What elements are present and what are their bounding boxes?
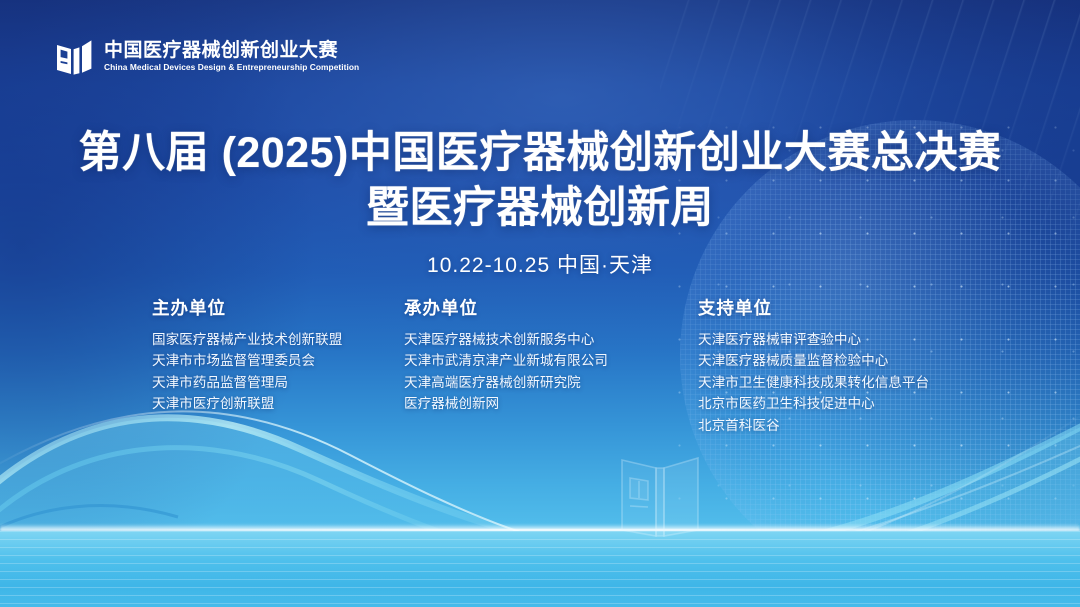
brand-logo[interactable]: 中国医疗器械创新创业大赛 China Medical Devices Desig… — [54, 36, 359, 78]
title-line-1: 第八届 (2025)中国医疗器械创新创业大赛总决赛 — [0, 126, 1080, 181]
event-poster: 中国医疗器械创新创业大赛 China Medical Devices Desig… — [0, 0, 1080, 607]
title-line-2: 暨医疗器械创新周 — [0, 181, 1080, 236]
open-door-book-logo-icon — [54, 36, 94, 78]
organizer-heading: 承办单位 — [404, 300, 698, 318]
organizer-column-support: 支持单位 天津医疗器械审评查验中心 天津医疗器械质量监督检验中心 天津市卫生健康… — [698, 300, 972, 436]
organizer-item: 天津市卫生健康科技成果转化信息平台 — [698, 372, 972, 394]
organizer-item: 天津市市场监督管理委员会 — [152, 350, 404, 372]
organizer-heading: 支持单位 — [698, 300, 972, 318]
organizer-item: 国家医疗器械产业技术创新联盟 — [152, 329, 404, 351]
organizer-item: 天津市武清京津产业新城有限公司 — [404, 350, 698, 372]
organizer-item: 天津市药品监督管理局 — [152, 372, 404, 394]
open-door-watermark-icon — [594, 448, 724, 543]
water-stripes-decoration — [0, 531, 1080, 607]
organizer-heading: 主办单位 — [152, 300, 404, 318]
brand-name-en: China Medical Devices Design & Entrepren… — [104, 63, 359, 72]
organizer-item: 天津市医疗创新联盟 — [152, 393, 404, 415]
organizer-item: 北京首科医谷 — [698, 415, 972, 437]
brand-logo-text: 中国医疗器械创新创业大赛 China Medical Devices Desig… — [104, 41, 359, 72]
organizer-item: 天津医疗器械质量监督检验中心 — [698, 350, 972, 372]
brand-name-cn: 中国医疗器械创新创业大赛 — [104, 41, 359, 61]
organizer-column-co-host: 承办单位 天津医疗器械技术创新服务中心 天津市武清京津产业新城有限公司 天津高端… — [404, 300, 698, 436]
organizer-item: 天津医疗器械技术创新服务中心 — [404, 329, 698, 351]
organizer-item: 医疗器械创新网 — [404, 393, 698, 415]
organizer-item: 天津医疗器械审评查验中心 — [698, 329, 972, 351]
organizer-column-host: 主办单位 国家医疗器械产业技术创新联盟 天津市市场监督管理委员会 天津市药品监督… — [152, 300, 404, 436]
organizer-item: 天津高端医疗器械创新研究院 — [404, 372, 698, 394]
organizer-columns: 主办单位 国家医疗器械产业技术创新联盟 天津市市场监督管理委员会 天津市药品监督… — [152, 300, 972, 436]
date-location-subtitle: 10.22-10.25 中国·天津 — [0, 249, 1080, 279]
organizer-item: 北京市医药卫生科技促进中心 — [698, 393, 972, 415]
page-title: 第八届 (2025)中国医疗器械创新创业大赛总决赛 暨医疗器械创新周 — [0, 126, 1080, 236]
